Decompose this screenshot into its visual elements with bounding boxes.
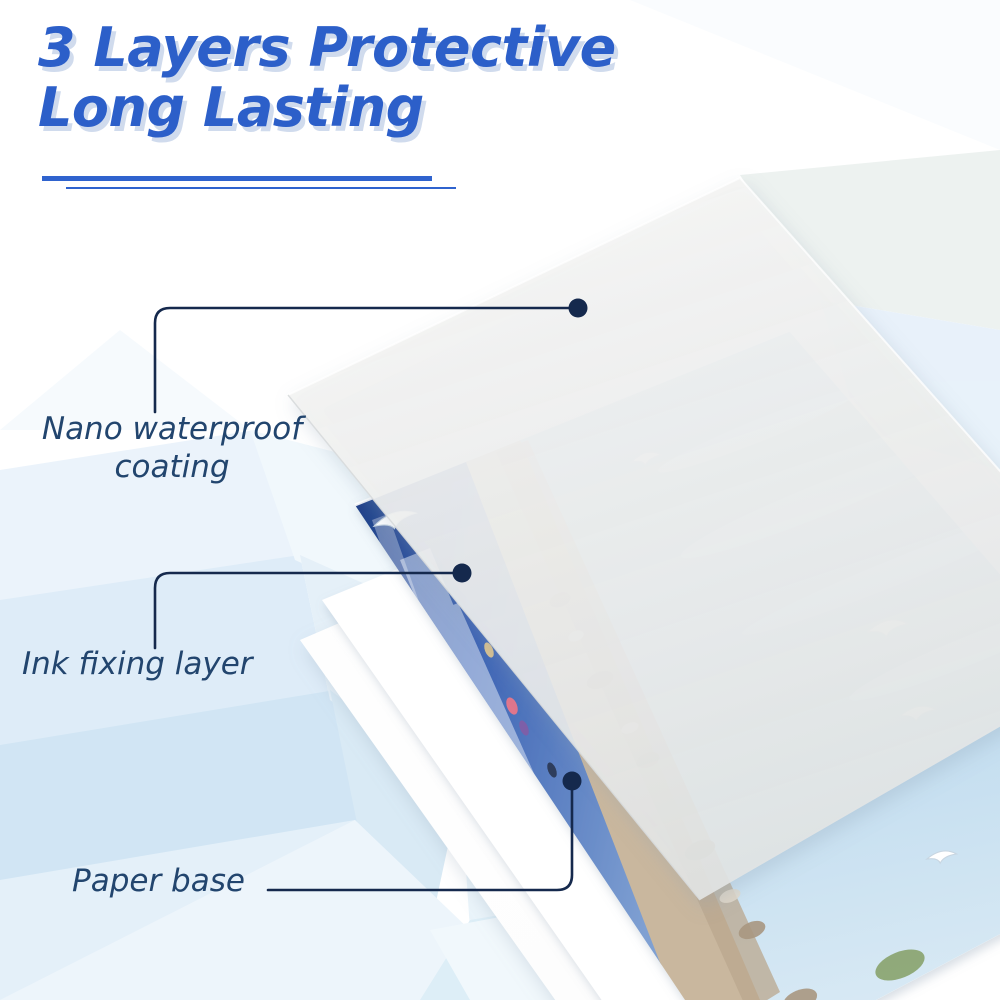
callout-line-paper-base (268, 772, 582, 891)
headline-line-2: Long Lasting (38, 78, 718, 138)
headline-line-1: 3 Layers Protective (38, 18, 718, 78)
infographic-canvas: 3 Layers Protective Long Lasting Nano wa… (0, 0, 1000, 1000)
layer-label-nano-waterproof-coating: Nano waterproof coating (12, 410, 332, 486)
callout-dot-nano-waterproof-coating[interactable] (569, 299, 588, 318)
callout-line-ink-fixing-layer (155, 564, 472, 649)
layer-label-ink-fixing-layer: Ink fixing layer (22, 645, 253, 683)
callout-dot-paper-base[interactable] (563, 772, 582, 791)
callout-lines-group (0, 0, 1000, 1000)
headline-block: 3 Layers Protective Long Lasting (38, 18, 718, 138)
divider-thick-rule (42, 176, 432, 181)
headline-divider (0, 176, 520, 216)
callout-line-nano-waterproof-coating (155, 299, 588, 413)
divider-thin-rule (66, 187, 456, 189)
callout-dot-ink-fixing-layer[interactable] (453, 564, 472, 583)
layer-label-paper-base: Paper base (72, 862, 245, 900)
